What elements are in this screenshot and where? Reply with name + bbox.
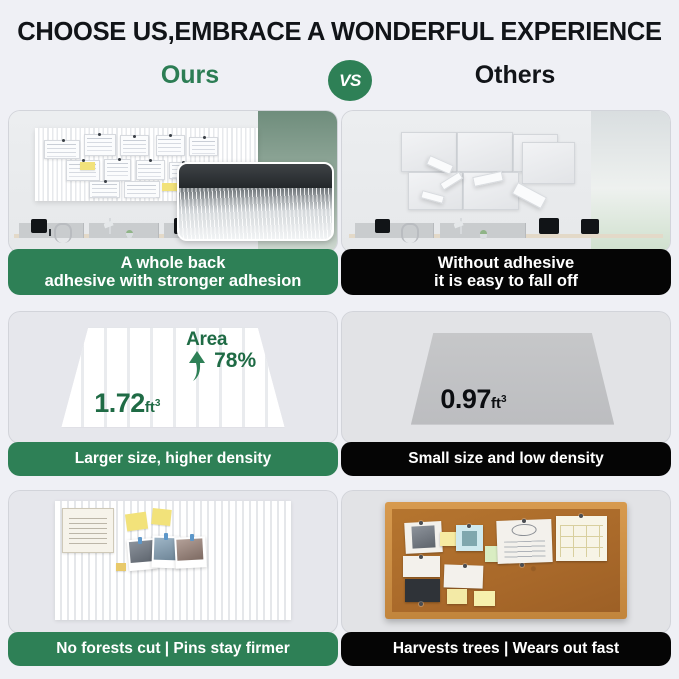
panel-others-adhesion-image [341, 110, 671, 253]
cork-board-frame [385, 502, 628, 618]
caption-line-1: Larger size, higher density [75, 450, 271, 467]
panel-others-adhesion: Without adhesive it is easy to fall off [341, 110, 671, 295]
vs-badge: VS [328, 60, 372, 101]
clip-icon [190, 534, 194, 541]
metric-unit: ft3 [145, 399, 161, 416]
column-label-others: Others [430, 61, 600, 90]
panel-others-sustainability: Harvests trees | Wears out fast [341, 490, 671, 666]
metric-value: 0.97 [440, 384, 491, 414]
caption-line-2: it is easy to fall off [434, 272, 578, 290]
panel-ours-adhesion: A whole back adhesive with stronger adhe… [8, 110, 338, 295]
metric-volume-others: 0.97ft3 [440, 384, 506, 415]
pinned-letter [496, 519, 552, 564]
panel-ours-size-caption: Larger size, higher density [8, 442, 338, 476]
pinned-note [447, 589, 468, 603]
panel-ours-sustainability-caption: No forests cut | Pins stay firmer [8, 632, 338, 666]
notice-text-lines [69, 518, 107, 544]
panel-ours-sustainability: No forests cut | Pins stay firmer [8, 490, 338, 666]
clip-icon [164, 533, 168, 540]
panel-ours-adhesion-image [8, 110, 338, 253]
caption-line-1: Without adhesive [434, 254, 578, 272]
pinned-photo-dark [405, 579, 439, 602]
panel-ours-sustainability-image [8, 490, 338, 634]
metric-unit: ft3 [491, 395, 507, 412]
fluted-wall-ours [55, 501, 291, 620]
office-scene-ours [9, 111, 337, 252]
caption-line-1: Harvests trees | Wears out fast [393, 640, 619, 657]
caption-line-1: A whole back [45, 254, 302, 272]
office-desks-others [342, 207, 670, 252]
metric-volume-ours: 1.72ft3 [94, 388, 160, 419]
caption-line-1: No forests cut | Pins stay firmer [56, 640, 289, 657]
sticky-note [151, 508, 171, 525]
caption-line-2: adhesive with stronger adhesion [45, 272, 302, 290]
page-title: CHOOSE US,EMBRACE A WONDERFUL EXPERIENCE [0, 18, 679, 47]
metric-value: 1.72 [94, 388, 145, 418]
panel-others-sustainability-image [341, 490, 671, 634]
up-arrow-icon [184, 349, 210, 383]
pinned-document [403, 556, 440, 576]
comparison-infographic: CHOOSE US,EMBRACE A WONDERFUL EXPERIENCE… [0, 0, 679, 679]
panel-others-sustainability-caption: Harvests trees | Wears out fast [341, 632, 671, 666]
panel-ours-size-image: 1.72ft3 Area 78% [8, 311, 338, 444]
pinned-calendar [556, 516, 606, 561]
sticky-note [125, 511, 148, 530]
area-callout: Area 78% [186, 329, 227, 351]
adhesive-closeup-inset [177, 162, 334, 241]
notice-card [62, 508, 114, 553]
panel-ours-adhesion-caption: A whole back adhesive with stronger adhe… [8, 249, 338, 295]
area-label: Area [186, 329, 227, 351]
panel-ours-size: 1.72ft3 Area 78% Larger size, higher den… [8, 311, 338, 476]
cork-surface [392, 509, 621, 611]
panel-others-adhesion-caption: Without adhesive it is easy to fall off [341, 249, 671, 295]
pinned-card [456, 525, 483, 552]
office-scene-others [342, 111, 670, 252]
adhesive-fibers [179, 188, 332, 239]
pinned-note [474, 591, 495, 605]
panel-others-size-caption: Small size and low density [341, 442, 671, 476]
panel-others-size: 0.97ft3 Small size and low density [341, 311, 671, 476]
clip-icon [138, 537, 142, 544]
caption-line-1: Small size and low density [408, 450, 604, 467]
panel-others-size-image: 0.97ft3 [341, 311, 671, 444]
sticky-note [116, 563, 125, 571]
column-label-ours: Ours [110, 61, 270, 90]
area-percent: 78% [214, 349, 256, 373]
pinned-photo [405, 521, 443, 554]
comparison-header: Ours VS Others [0, 60, 679, 102]
